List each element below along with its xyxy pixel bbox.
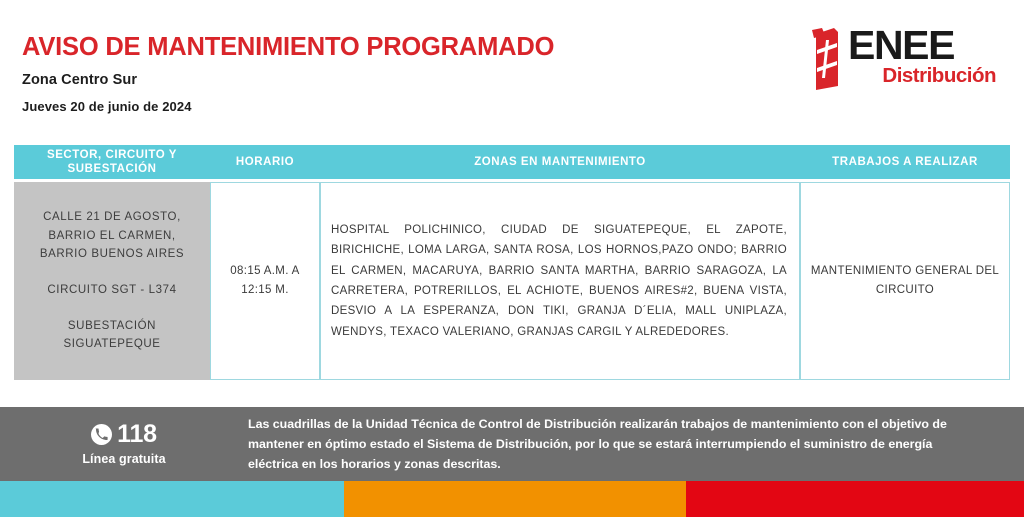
- hotline-row: 118: [91, 422, 157, 447]
- phone-handset-icon: [91, 424, 112, 445]
- table-header-row: SECTOR, CIRCUITO Y SUBESTACIÓN HORARIO Z…: [14, 145, 1010, 179]
- cell-sector-inner: CALLE 21 DE AGOSTO, BARRIO EL CARMEN, BA…: [23, 208, 201, 354]
- title-block: AVISO DE MANTENIMIENTO PROGRAMADO Zona C…: [22, 34, 554, 114]
- column-header-zonas: ZONAS EN MANTENIMIENTO: [320, 145, 800, 179]
- logo-sub-brand: Distribución: [848, 66, 998, 87]
- sector-address: CALLE 21 DE AGOSTO, BARRIO EL CARMEN, BA…: [23, 208, 201, 264]
- logo-wordmark: ENEE Distribución: [848, 26, 998, 86]
- color-segment-red: [686, 481, 1024, 517]
- color-segment-cyan: [0, 481, 344, 517]
- color-segment-orange: [344, 481, 686, 517]
- hotline-block: 118 Línea gratuita: [0, 422, 248, 466]
- enee-flag-mark-icon: [812, 28, 846, 90]
- bottom-color-bar: [0, 481, 1024, 517]
- sector-circuito: CIRCUITO SGT - L374: [23, 281, 201, 300]
- sector-subestacion: SUBESTACIÓN SIGUATEPEQUE: [23, 317, 201, 354]
- hotline-number: 118: [117, 422, 157, 447]
- cell-trabajos: MANTENIMIENTO GENERAL DEL CIRCUITO: [800, 182, 1010, 380]
- page-title: AVISO DE MANTENIMIENTO PROGRAMADO: [22, 34, 554, 61]
- notice-date: Jueves 20 de junio de 2024: [22, 99, 554, 114]
- cell-sector: CALLE 21 DE AGOSTO, BARRIO EL CARMEN, BA…: [14, 182, 210, 380]
- cell-horario: 08:15 A.M. A 12:15 M.: [210, 182, 320, 380]
- logo-brand: ENEE: [848, 26, 998, 65]
- column-header-trabajos: TRABAJOS A REALIZAR: [800, 145, 1010, 179]
- footer-band: 118 Línea gratuita Las cuadrillas de la …: [0, 407, 1024, 481]
- hotline-label: Línea gratuita: [82, 452, 165, 466]
- column-header-horario: HORARIO: [210, 145, 320, 179]
- zone-subtitle: Zona Centro Sur: [22, 72, 554, 88]
- maintenance-table: SECTOR, CIRCUITO Y SUBESTACIÓN HORARIO Z…: [14, 145, 1010, 380]
- cell-zonas: HOSPITAL POLICHINICO, CIUDAD DE SIGUATEP…: [320, 182, 800, 380]
- table-row: CALLE 21 DE AGOSTO, BARRIO EL CARMEN, BA…: [14, 182, 1010, 380]
- page-header: AVISO DE MANTENIMIENTO PROGRAMADO Zona C…: [0, 0, 1024, 132]
- enee-logo: ENEE Distribución: [812, 26, 998, 92]
- footer-notice-text: Las cuadrillas de la Unidad Técnica de C…: [248, 414, 1024, 474]
- zonas-text: HOSPITAL POLICHINICO, CIUDAD DE SIGUATEP…: [331, 220, 787, 343]
- column-header-sector: SECTOR, CIRCUITO Y SUBESTACIÓN: [14, 145, 210, 179]
